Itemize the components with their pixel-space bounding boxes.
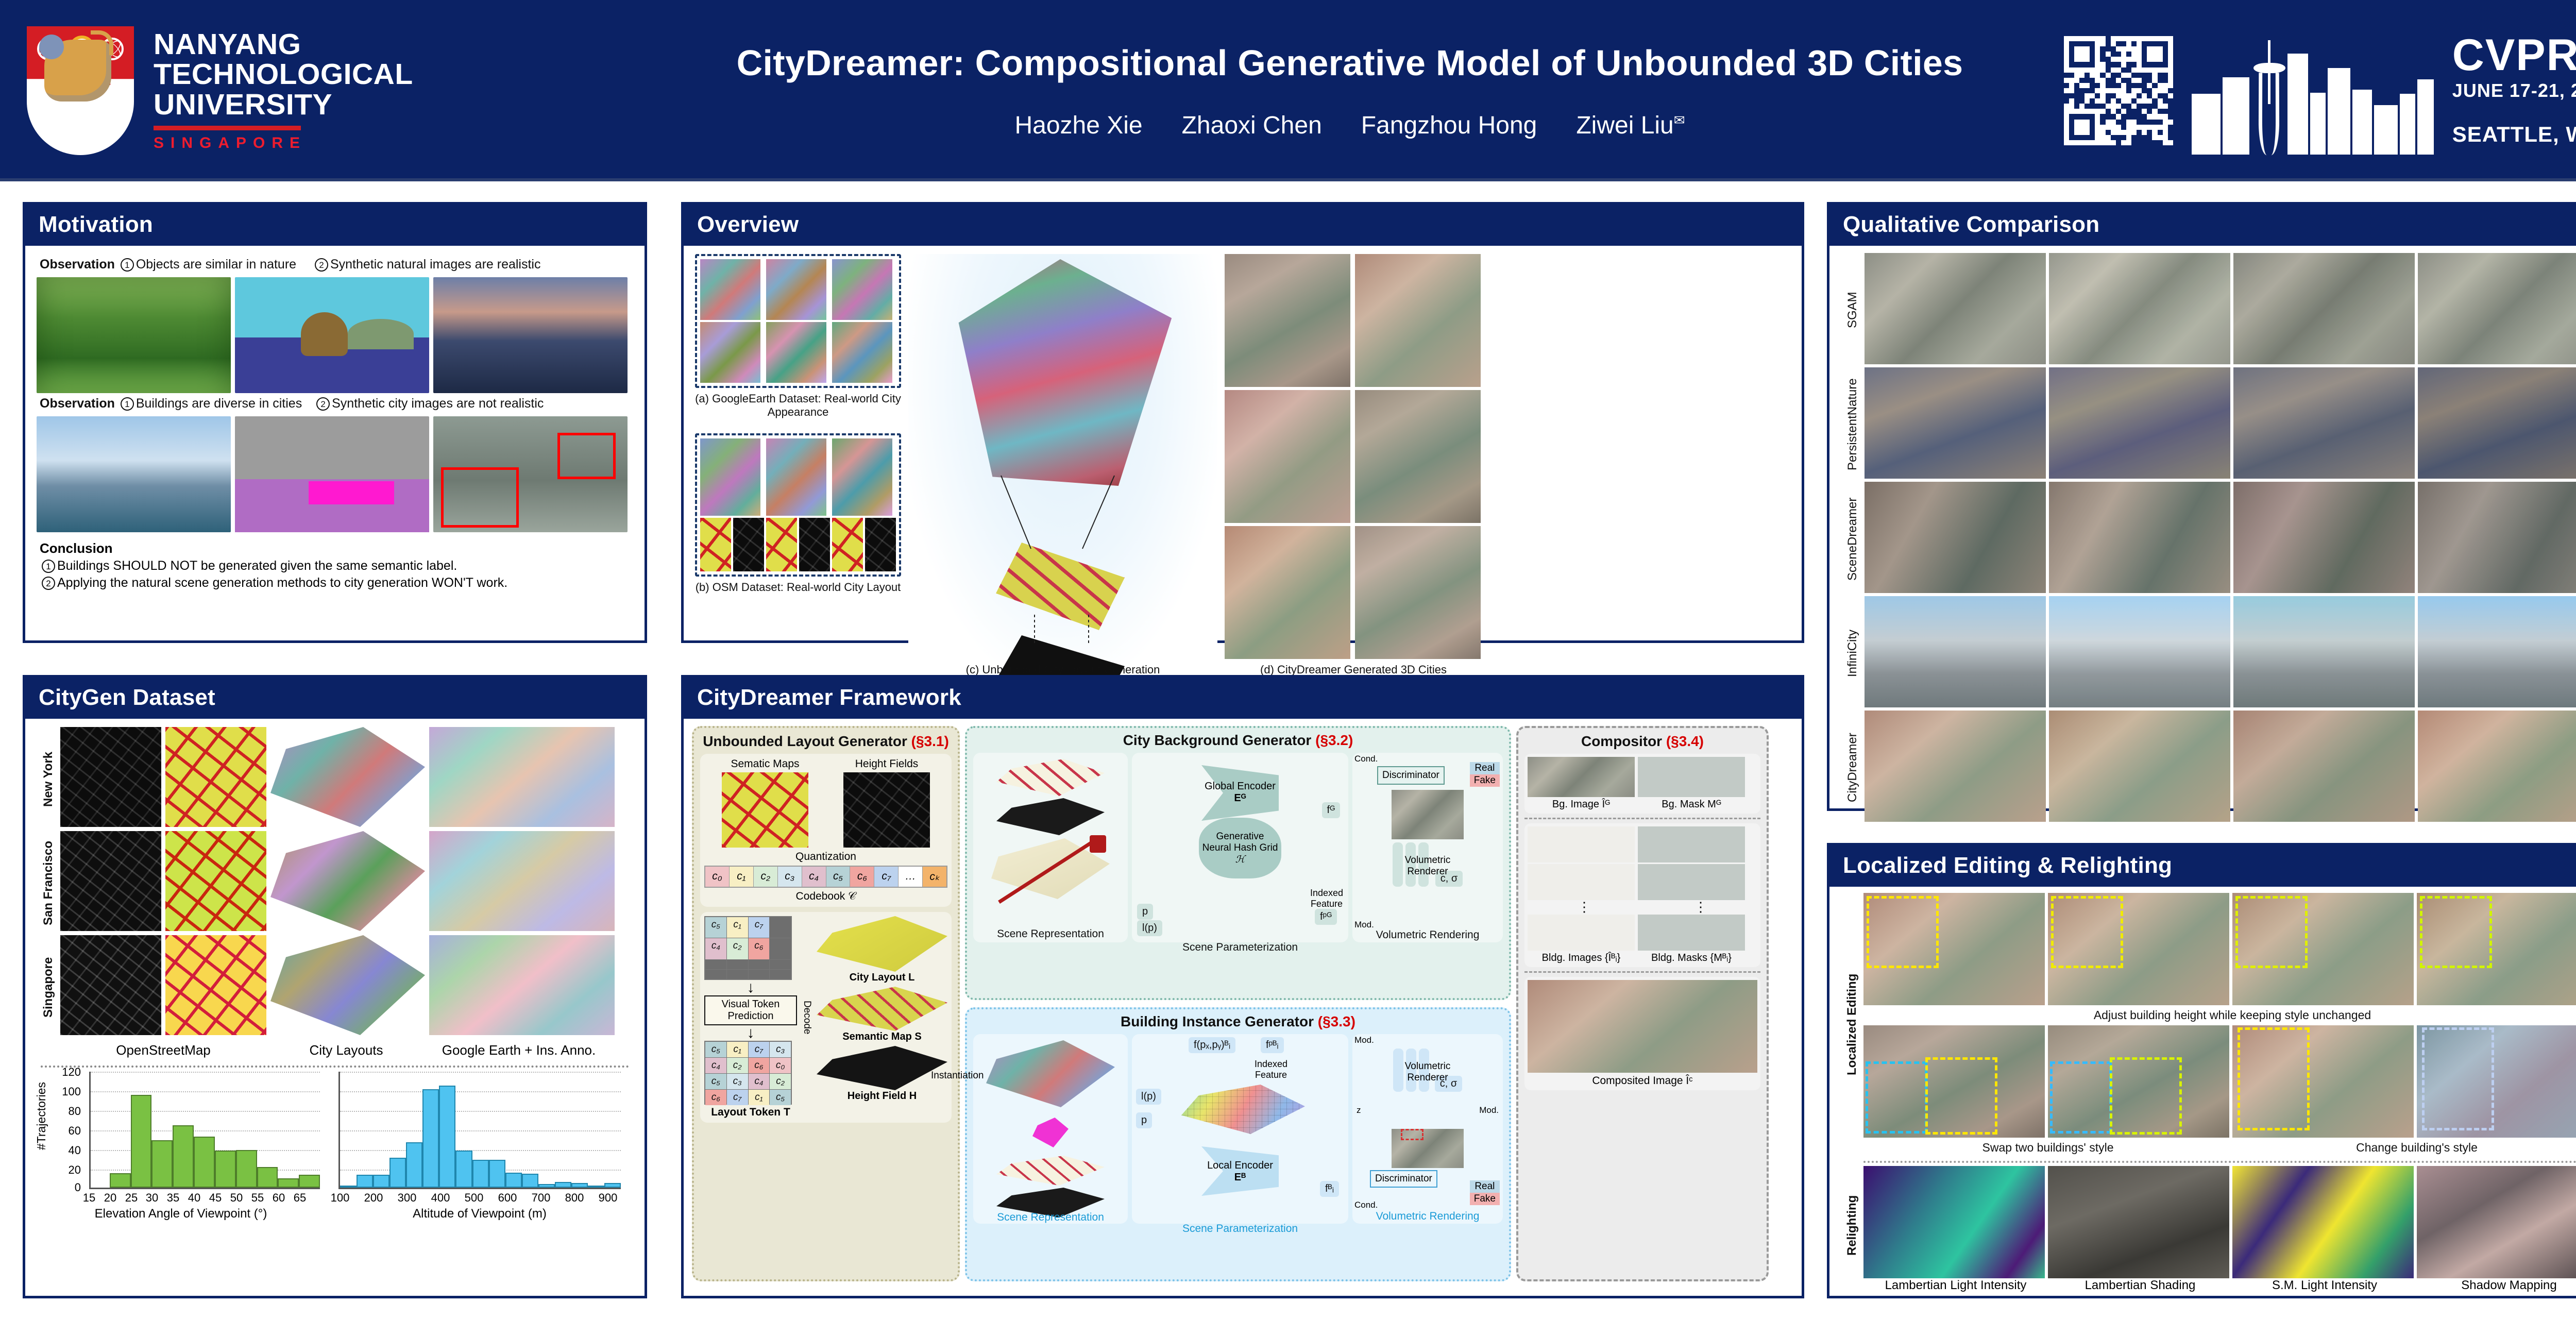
framework-middle-column: City Background Generator (§3.2) — [965, 726, 1511, 1281]
qual-cell — [2418, 711, 2576, 822]
google-earth-annotation-image — [429, 935, 615, 1035]
big-z-label: z — [1357, 1105, 1361, 1115]
qual-row-sgam — [1865, 253, 2576, 364]
ntu-country: SINGAPORE — [154, 134, 413, 152]
relight-cell-sm-intensity — [2232, 1166, 2414, 1278]
height-plane — [996, 798, 1105, 835]
ge-tile — [832, 259, 892, 320]
osm-height-tile — [865, 518, 896, 571]
composited-image-thumb — [1528, 980, 1757, 1073]
bar-150-200 — [357, 1175, 373, 1188]
overview-col-results: (d) CityDreamer Generated 3D Cities — [1225, 254, 1482, 677]
ulg-quantization-pane: Sematic Maps Height Fields Quantization … — [700, 754, 952, 907]
author-list: Haozhe Xie Zhaoxi Chen Fangzhou Hong Ziw… — [1014, 111, 1685, 140]
google-earth-annotation-image — [429, 727, 615, 827]
edit-cell-height-2 — [2048, 893, 2229, 1005]
chart1-xticks: 15 20 25 30 35 40 45 50 55 60 65 — [89, 1189, 320, 1205]
bar-100-150 — [340, 1186, 357, 1188]
cbg-mod-label: Mod. — [1354, 920, 1374, 930]
conclusion-title: Conclusion — [40, 540, 633, 556]
bar-600-650 — [505, 1173, 522, 1188]
editing-image-grid: Adjust building height while keeping sty… — [1863, 893, 2576, 1295]
osm-height-image — [60, 727, 161, 827]
label-global-encoder: Global Encoder — [1136, 781, 1344, 792]
qualitative-row-labels: SGAM PersistentNature SceneDreamer Infin… — [1841, 253, 1865, 825]
row-label-infinicity: InfiniCity — [1841, 596, 1865, 711]
circle-number-2: 2 — [315, 258, 328, 272]
label-global-encoder-sym: Eᴳ — [1136, 792, 1344, 804]
bar-450-500 — [455, 1151, 472, 1188]
edit-cell-height-4 — [2417, 893, 2576, 1005]
compositor-bldg-rows: ⋮ ⋮ Bldg. Images {Îᴮᵢ} Bldg. Masks {Mᴮᵢ} — [1524, 823, 1760, 967]
label-local-encoder: Local Encoder — [1136, 1160, 1344, 1172]
bar-700-750 — [538, 1184, 555, 1188]
generated-city-image — [1225, 254, 1350, 387]
row-label-sgam: SGAM — [1841, 253, 1865, 367]
motivation-row-city — [37, 416, 633, 532]
label-bldg-masks: Bldg. Masks {Mᴮᵢ} — [1638, 952, 1745, 964]
caption-shadow-mapping: Shadow Mapping — [2417, 1278, 2576, 1293]
ulg-title: Unbounded Layout Generator (§3.1) — [700, 733, 952, 750]
module-city-background-generator: City Background Generator (§3.2) — [965, 726, 1511, 1000]
cbg-indexed-feature-box: fᵖᴳ — [1315, 909, 1337, 925]
image-city-semantic-map — [235, 416, 429, 532]
caption-lambertian-shading: Lambertian Shading — [2048, 1278, 2232, 1293]
poster-header: NANYANG TECHNOLOGICAL UNIVERSITY SINGAPO… — [0, 0, 2576, 181]
envelope-icon: ✉ — [1674, 112, 1685, 128]
qr-code-icon[interactable] — [2064, 36, 2173, 145]
panel-citygen-dataset: CityGen Dataset New York San Francisco S… — [23, 675, 647, 1298]
qual-cell — [2418, 596, 2576, 707]
highlight-box-right — [557, 433, 616, 479]
cbg-discriminator-box: Discriminator — [1377, 766, 1445, 785]
label-instantiation: Instantiation — [931, 1070, 984, 1081]
panel-citydreamer-framework: CityDreamer Framework Unbounded Layout G… — [681, 675, 1804, 1298]
label-height-field: Height Field H — [817, 1090, 947, 1102]
city-layout-3d-render — [817, 916, 947, 972]
editing-row-labels: Localized Editing Relighting — [1841, 893, 1863, 1295]
chart2-plot-area — [338, 1072, 621, 1189]
generated-city-image — [1225, 390, 1350, 523]
ge-tile — [700, 259, 760, 320]
ntu-divider — [154, 126, 301, 130]
city-layout-render — [270, 727, 425, 827]
qual-cell — [2049, 596, 2230, 707]
qual-cell — [1865, 367, 2046, 479]
author-2: Fangzhou Hong — [1361, 111, 1537, 140]
codebook-strip: c₀ c₁ c₂ c₃ c₄ c₅ c₆ c₇ … cₖ — [704, 866, 947, 888]
bldg-image-thumb — [1528, 864, 1635, 900]
cvpr-dates: JUNE 17-21, 2024 — [2452, 80, 2576, 102]
instance-layout-render — [986, 1040, 1115, 1107]
qual-cell — [1865, 253, 2046, 364]
image-nature-semantic-map — [235, 277, 429, 393]
circle-number-5: 1 — [42, 560, 55, 573]
editing-row-style — [1863, 1025, 2576, 1138]
lp-box: l(p) — [1137, 920, 1162, 936]
observation-line-2: Observation 1Buildings are diverse in ci… — [40, 396, 633, 411]
big-pane1-label: Scene Representation — [973, 1211, 1128, 1224]
osm-semantic-image — [165, 831, 266, 931]
big-discriminator-box: Discriminator — [1370, 1170, 1437, 1188]
osm-3d-tile — [700, 438, 760, 516]
module-building-instance-generator: Instantiation Building Instance Generato… — [965, 1007, 1511, 1281]
cbg-cond-label: Cond. — [1354, 754, 1378, 764]
partial-token-grid: c₅ c₁ c₇ c₄ c₂ c₆ — [704, 916, 792, 980]
circle-number-6: 2 — [42, 577, 55, 590]
big-real-fake-badge: Real Fake — [1470, 1180, 1500, 1205]
googleearth-dataset-box — [695, 254, 901, 388]
ntu-line-3: UNIVERSITY — [154, 90, 413, 120]
arrow-down-icon: ↓ — [704, 1025, 797, 1041]
bldg-mask-thumb — [1638, 826, 1745, 863]
module-compositor: Compositor (§3.4) Bg. Image Îᴳ Bg. Mask … — [1516, 726, 1769, 1281]
qual-cell — [2418, 482, 2576, 593]
author-1: Zhaoxi Chen — [1182, 111, 1322, 140]
panel-qualitative-comparison: Qualitative Comparison SGAM PersistentNa… — [1827, 202, 2576, 811]
bldg-mask-thumb — [1638, 915, 1745, 951]
motivation-row-nature — [37, 277, 633, 393]
bar-650-700 — [522, 1174, 538, 1188]
label-composited-image: Composited Image Îᶜ — [1528, 1075, 1757, 1087]
qual-cell — [2233, 482, 2415, 593]
panel-title-citygen: CityGen Dataset — [25, 678, 645, 719]
ntu-logo: NANYANG TECHNOLOGICAL UNIVERSITY SINGAPO… — [27, 26, 413, 155]
bar-750-800 — [555, 1182, 571, 1188]
overview-caption-b: (b) OSM Dataset: Real-world City Layout — [695, 581, 901, 594]
label-city-layout: City Layout L — [817, 972, 947, 984]
relight-cell-lambertian-intensity — [1863, 1166, 2045, 1278]
ntu-crest-icon — [27, 26, 134, 155]
relight-cell-lambertian-shading — [2048, 1166, 2229, 1278]
big-p-box: p — [1136, 1112, 1152, 1128]
relighting-row — [1863, 1166, 2576, 1278]
cbg-indexed-feature-label: Indexed Feature — [1310, 888, 1343, 909]
cvpr-location: SEATTLE, WA — [2452, 122, 2576, 147]
citygen-column-captions: OpenStreetMap City Layouts Google Earth … — [60, 1042, 633, 1058]
label-semantic-map: Semantic Map S — [817, 1031, 947, 1043]
bldg-image-thumb — [1528, 826, 1635, 863]
motivation-body: Observation 1Objects are similar in natu… — [25, 246, 645, 598]
bar-45-50 — [215, 1151, 236, 1188]
bar-40-45 — [194, 1137, 215, 1188]
big-scene-parameterization: l(p) p f(pₓ,pᵧ)ᴮᵢ fᵖᴮᵢ Indexed Fe — [1132, 1034, 1348, 1224]
ge-tile — [700, 322, 760, 383]
bar-60-65 — [278, 1178, 299, 1188]
height-field-render — [817, 1046, 947, 1090]
image-city-generated — [433, 416, 628, 532]
qual-cell — [2233, 711, 2415, 822]
osm-height-tile — [799, 518, 830, 571]
generated-city-image — [1355, 254, 1481, 387]
qual-cell — [2049, 482, 2230, 593]
citygen-row-labels: New York San Francisco Singapore — [37, 727, 60, 1039]
ntu-wordmark: NANYANG TECHNOLOGICAL UNIVERSITY SINGAPO… — [154, 29, 413, 151]
citygen-image-grid — [60, 727, 633, 1039]
compositor-output: Composited Image Îᶜ — [1524, 977, 1760, 1090]
citygen-body: New York San Francisco Singapore — [25, 719, 645, 1228]
label-bldg-images: Bldg. Images {Îᴮᵢ} — [1528, 952, 1635, 964]
camera-ray-arrow — [989, 835, 1117, 912]
qual-cell — [1865, 711, 2046, 822]
height-fields-thumb — [843, 772, 930, 848]
bar-55-60 — [257, 1167, 278, 1188]
osm-sem-tile — [832, 518, 863, 571]
ge-tile — [766, 322, 826, 383]
osm-height-image — [60, 831, 161, 931]
big-title: Building Instance Generator (§3.3) — [973, 1013, 1503, 1030]
image-city-photo — [37, 416, 231, 532]
conclusion-item-1: 1Buildings SHOULD NOT be generated given… — [40, 559, 633, 573]
page-title: CityDreamer: Compositional Generative Mo… — [737, 42, 1963, 83]
big-mod-label-top: Mod. — [1354, 1035, 1374, 1045]
relight-cell-shadow-mapping — [2417, 1166, 2576, 1278]
cbg-pane1-label: Scene Representation — [973, 928, 1128, 940]
bar-200-250 — [373, 1175, 389, 1188]
qual-cell — [2049, 711, 2230, 822]
author-3: Ziwei Liu✉ — [1576, 111, 1685, 140]
city-layout-render — [270, 831, 425, 931]
seattle-skyline-icon — [2192, 27, 2434, 155]
osm-sem-tile — [700, 518, 731, 571]
semantic-maps-thumb — [722, 772, 808, 848]
caption-change-style: Change building's style — [2232, 1141, 2576, 1155]
edit-cell-height-3 — [2232, 893, 2414, 1005]
osm-sem-tile — [766, 518, 797, 571]
panel-title-editing: Localized Editing & Relighting — [1829, 845, 2576, 887]
cbg-scene-parameterization: Global Encoder Eᴳ fᴳ Generative Neural H… — [1132, 753, 1348, 942]
chart1-bars — [91, 1072, 320, 1188]
overview-col-datasets: (a) GoogleEarth Dataset: Real-world City… — [695, 254, 901, 677]
bar-850-900 — [588, 1186, 604, 1188]
compositor-bg-row: Bg. Image Îᴳ Bg. Mask Mᴳ — [1524, 754, 1760, 814]
chart1-plot-area — [89, 1072, 320, 1189]
editing-body: Localized Editing Relighting Adjust buil… — [1829, 887, 2576, 1302]
editing-row-height — [1863, 893, 2576, 1005]
citygen-row-san-francisco — [60, 831, 633, 931]
highlight-box-left — [441, 467, 519, 528]
ge-tile — [832, 322, 892, 383]
overview-connector-lines — [908, 254, 1217, 718]
qual-row-persistentnature — [1865, 367, 2576, 479]
chart1-ylabel: #Trajectories — [35, 1082, 48, 1150]
bar-35-40 — [173, 1125, 194, 1188]
row-label-new-york: New York — [37, 727, 60, 831]
observation-line-1: Observation 1Objects are similar in natu… — [40, 257, 633, 272]
label-decode: Decode — [801, 1001, 812, 1035]
bar-900 — [604, 1183, 621, 1188]
bar-500-550 — [472, 1160, 489, 1188]
big-rendered-preview — [1392, 1129, 1464, 1168]
title-block: CityDreamer: Compositional Generative Mo… — [659, 0, 2040, 181]
cbg-real-fake-badge: Real Fake — [1470, 762, 1500, 787]
citygen-charts: #Trajectories 120 100 80 60 40 20 0 — [37, 1072, 633, 1221]
caption-openstreetmap: OpenStreetMap — [60, 1042, 266, 1058]
edit-cell-swap-2 — [2048, 1025, 2229, 1138]
cbg-pane2-label: Scene Parameterization — [1132, 941, 1348, 954]
qual-row-scenedreamer — [1865, 482, 2576, 593]
chart2-xlabel: Altitude of Viewpoint (m) — [330, 1207, 629, 1221]
bldg-mask-thumb — [1638, 864, 1745, 900]
osm-dataset-box — [695, 433, 901, 577]
qual-cell — [2418, 253, 2576, 364]
panel-overview: Overview (a) GoogleEarth Dataset: Real-w… — [681, 202, 1804, 643]
qual-cell — [2233, 253, 2415, 364]
row-label-scenedreamer: SceneDreamer — [1841, 482, 1865, 596]
conclusion-item-2: 2Applying the natural scene generation m… — [40, 576, 633, 590]
chart1-xlabel: Elevation Angle of Viewpoint (°) — [37, 1207, 325, 1221]
big-pane2-label: Scene Parameterization — [1132, 1223, 1348, 1235]
qual-cell — [2049, 367, 2230, 479]
ulg-token-pane: c₅ c₁ c₇ c₄ c₂ c₆ ↓ — [700, 912, 952, 1123]
big-volumetric-renderer-label: Volumetric Renderer — [1357, 1061, 1499, 1084]
cvpr-name: CVPR — [2452, 35, 2576, 77]
bar-350-400 — [422, 1089, 439, 1188]
big-lp-box: l(p) — [1136, 1089, 1161, 1105]
chart2-bars — [340, 1072, 621, 1188]
chart-elevation-angle: #Trajectories 120 100 80 60 40 20 0 — [37, 1072, 325, 1221]
caption-city-layouts: City Layouts — [266, 1042, 426, 1058]
circle-number-3: 1 — [121, 397, 134, 411]
cbg-title: City Background Generator (§3.2) — [973, 732, 1503, 749]
caption-swap-style: Swap two buildings' style — [1863, 1141, 2232, 1155]
big-volumetric-rendering: Mod. c, σ Volumetric Renderer z Mod. — [1352, 1034, 1503, 1224]
sem-plane — [996, 759, 1105, 796]
image-nature-generated — [433, 277, 628, 393]
qual-cell — [2049, 253, 2230, 364]
ntu-line-1: NANYANG — [154, 29, 413, 59]
generated-city-image — [1225, 526, 1350, 659]
edit-cell-change-1 — [2232, 1025, 2414, 1138]
bar-65-68 — [299, 1175, 320, 1188]
ge-tile — [766, 259, 826, 320]
qual-cell — [2418, 367, 2576, 479]
bldg-image-thumb — [1528, 915, 1635, 951]
neural-hash-grid-shape: Generative Neural Hash Grid ℋ — [1199, 818, 1281, 878]
bar-300-350 — [406, 1142, 422, 1188]
cbg-rendered-preview — [1392, 790, 1464, 839]
city-layout-render — [270, 935, 425, 1035]
osm-height-tile — [733, 518, 764, 571]
label-quantization: Quantization — [704, 851, 947, 863]
module-unbounded-layout-generator: Unbounded Layout Generator (§3.1) Semati… — [692, 726, 960, 1281]
citygen-row-new-york — [60, 727, 633, 827]
relighting-captions: Lambertian Light Intensity Lambertian Sh… — [1863, 1278, 2576, 1293]
big-sem-plane — [996, 1156, 1105, 1186]
caption-lambertian-light-intensity: Lambertian Light Intensity — [1863, 1278, 2048, 1293]
osm-semantic-image — [165, 727, 266, 827]
bar-30-35 — [151, 1140, 173, 1188]
bar-50-55 — [236, 1150, 257, 1188]
editing-divider — [1863, 1161, 2576, 1163]
qual-cell — [2233, 596, 2415, 707]
editing-style-captions: Swap two buildings' style Change buildin… — [1863, 1138, 2576, 1158]
row-label-san-francisco: San Francisco — [37, 831, 60, 935]
caption-adjust-height: Adjust building height while keeping sty… — [1863, 1008, 2576, 1022]
bg-image-thumb — [1528, 757, 1635, 797]
panel-title-framework: CityDreamer Framework — [684, 678, 1802, 719]
label-semantic-maps: Sematic Maps — [722, 758, 808, 770]
big-indexed-feature-box: fᵖᴮᵢ — [1261, 1037, 1284, 1053]
caption-sm-light-intensity: S.M. Light Intensity — [2232, 1278, 2417, 1293]
bg-mask-thumb — [1638, 757, 1745, 797]
qual-cell — [2233, 367, 2415, 479]
cbg-scene-representation: Scene Representation — [973, 753, 1128, 942]
osm-height-image — [60, 935, 161, 1035]
cbg-volumetric-renderer-label: Volumetric Renderer — [1357, 855, 1499, 877]
google-earth-annotation-image — [429, 831, 615, 931]
panel-motivation: Motivation Observation 1Objects are simi… — [23, 202, 647, 643]
row-label-persistentnature: PersistentNature — [1841, 367, 1865, 482]
overview-caption-a: (a) GoogleEarth Dataset: Real-world City… — [695, 392, 901, 419]
edit-cell-swap-1 — [1863, 1025, 2045, 1138]
bar-250-300 — [389, 1158, 406, 1188]
citygen-divider — [41, 1066, 629, 1068]
chart-altitude: 100 200 300 400 500 600 700 800 900 Alti… — [330, 1072, 629, 1221]
row-label-relighting: Relighting — [1841, 1156, 1863, 1295]
panel-title-motivation: Motivation — [25, 205, 645, 246]
big-cond-label: Cond. — [1354, 1200, 1378, 1210]
panel-title-qualitative: Qualitative Comparison — [1829, 205, 2576, 246]
generated-city-image — [1355, 390, 1481, 523]
qualitative-body: SGAM PersistentNature SceneDreamer Infin… — [1829, 246, 2576, 832]
image-forest-photo — [37, 277, 231, 393]
qual-cell — [1865, 596, 2046, 707]
cbg-volumetric-rendering: Cond. Discriminator Real Fake — [1352, 753, 1503, 942]
local-feature-grid — [1181, 1085, 1305, 1134]
label-local-encoder-sym: Eᴮ — [1136, 1172, 1344, 1183]
qual-row-citydreamer — [1865, 711, 2576, 822]
row-label-singapore: Singapore — [37, 935, 60, 1039]
generated-city-image — [1355, 526, 1481, 659]
selected-building-highlight — [1032, 1118, 1069, 1147]
qual-cell — [1865, 482, 2046, 593]
cbg-pane3-label: Volumetric Rendering — [1352, 929, 1503, 941]
label-layout-token: Layout Token T — [704, 1106, 797, 1119]
osm-3d-tile — [832, 438, 892, 516]
big-indexed-feature-label: Indexed Feature — [1255, 1059, 1287, 1080]
semantic-map-render — [817, 987, 947, 1031]
bar-25-30 — [131, 1095, 152, 1188]
bar-20-25 — [110, 1173, 131, 1188]
overview-col-generation: (c) Unbounded City Layout Generation — [908, 254, 1217, 677]
bar-400-450 — [439, 1086, 455, 1188]
edit-cell-height-1 — [1863, 893, 2045, 1005]
qual-row-infinicity — [1865, 596, 2576, 707]
framework-body: Unbounded Layout Generator (§3.1) Semati… — [684, 719, 1802, 1288]
edit-cell-change-2 — [2417, 1025, 2576, 1138]
cvpr-logo-block: CVPR JUNE 17-21, 2024 SEATTLE, WA — [2064, 13, 2576, 168]
big-scene-representation: Scene Representation — [973, 1034, 1128, 1224]
chart1-yticks: 120 100 80 60 40 20 0 — [54, 1072, 86, 1190]
big-mod-label-bottom: Mod. — [1479, 1105, 1499, 1115]
p-box: p — [1137, 904, 1153, 920]
chart2-xticks: 100 200 300 400 500 600 700 800 900 — [338, 1189, 621, 1205]
compositor-title: Compositor (§3.4) — [1524, 733, 1760, 750]
bar-800-850 — [571, 1183, 588, 1188]
caption-google-earth: Google Earth + Ins. Anno. — [426, 1042, 612, 1058]
big-pane3-label: Volumetric Rendering — [1352, 1210, 1503, 1223]
label-height-fields: Height Fields — [843, 758, 930, 770]
author-0: Haozhe Xie — [1014, 111, 1142, 140]
citygen-row-singapore — [60, 935, 633, 1035]
osm-semantic-image — [165, 935, 266, 1035]
ntu-line-2: TECHNOLOGICAL — [154, 59, 413, 89]
big-feature-pxpy-box: f(pₓ,pᵧ)ᴮᵢ — [1189, 1037, 1235, 1053]
label-bg-mask: Bg. Mask Mᴳ — [1638, 799, 1745, 810]
overview-body: (a) GoogleEarth Dataset: Real-world City… — [684, 246, 1802, 684]
osm-3d-tile — [766, 438, 826, 516]
